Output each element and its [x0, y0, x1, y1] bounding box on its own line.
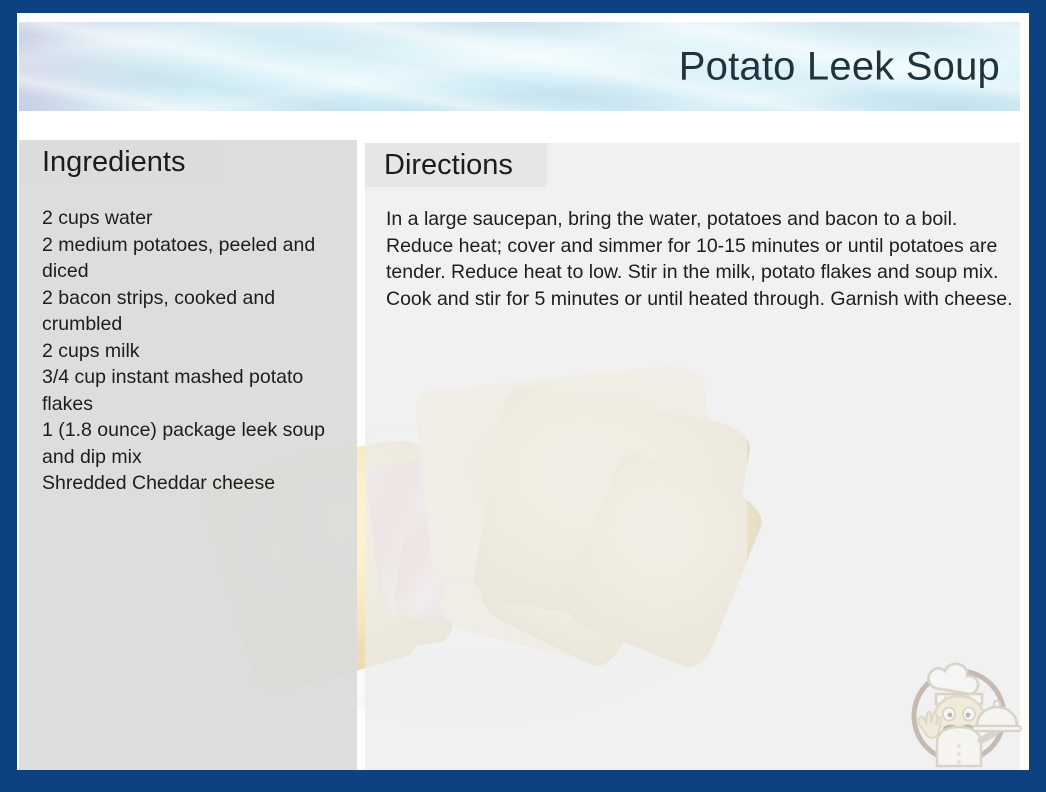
- list-item: 2 bacon strips, cooked and crumbled: [42, 285, 354, 338]
- list-item: Shredded Cheddar cheese: [42, 470, 372, 497]
- tab-directions[interactable]: Directions: [365, 143, 547, 187]
- ingredients-list: 2 cups water 2 medium potatoes, peeled a…: [42, 205, 372, 497]
- tab-ingredients-label: Ingredients: [42, 148, 186, 177]
- tab-directions-label: Directions: [384, 151, 513, 180]
- list-item: 3/4 cup instant mashed potato flakes: [42, 364, 354, 417]
- header-banner: Potato Leek Soup: [19, 22, 1020, 111]
- list-item: 1 (1.8 ounce) package leek soup and dip …: [42, 417, 354, 470]
- directions-text: In a large saucepan, bring the water, po…: [386, 206, 1026, 312]
- list-item: 2 medium potatoes, peeled and diced: [42, 232, 354, 285]
- directions-body: In a large saucepan, bring the water, po…: [386, 206, 1029, 312]
- list-item: 2 cups milk: [42, 338, 372, 365]
- page-title: Potato Leek Soup: [679, 44, 1000, 89]
- tab-ingredients[interactable]: Ingredients: [19, 140, 217, 184]
- recipe-card: Potato Leek Soup Ingredients: [0, 0, 1046, 792]
- card-inner: Potato Leek Soup Ingredients: [17, 13, 1029, 770]
- list-item: 2 cups water: [42, 205, 372, 232]
